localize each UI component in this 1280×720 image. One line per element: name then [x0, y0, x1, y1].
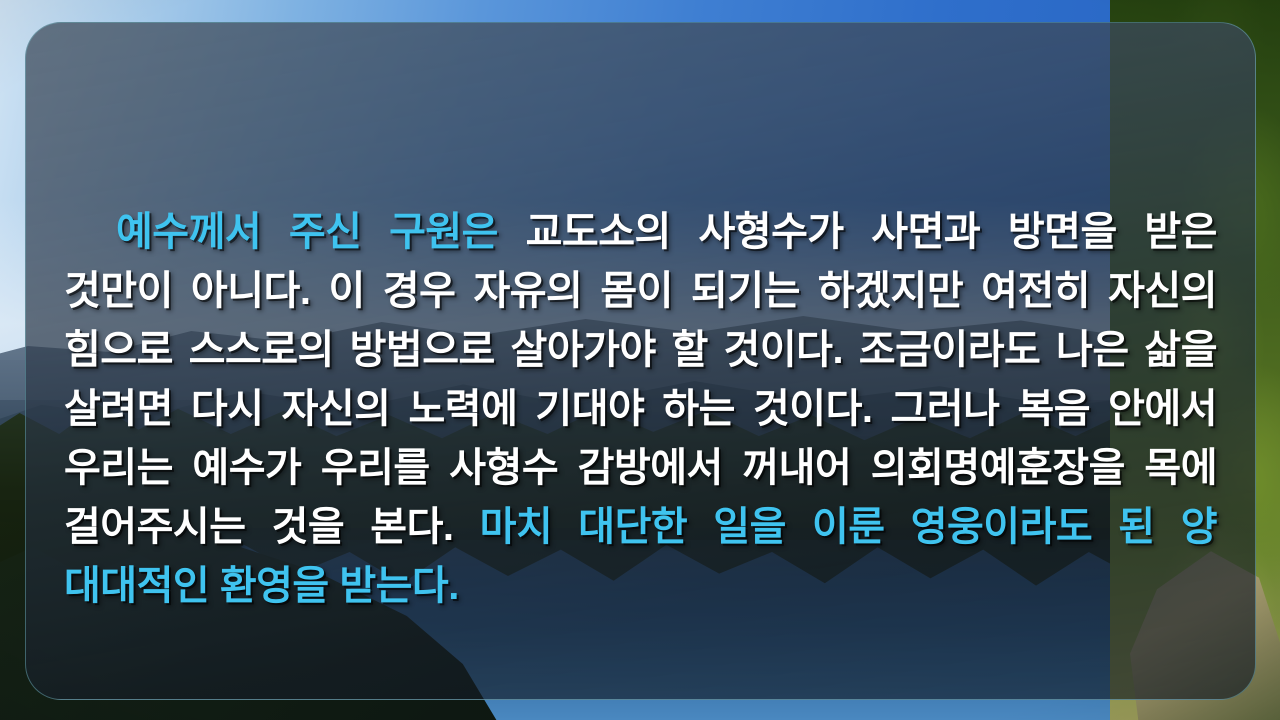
- slide-stage: 예수께서 주신 구원은 교도소의 사형수가 사면과 방면을 받은 것만이 아니다…: [0, 0, 1280, 720]
- body-main-text: 교도소의 사형수가 사면과 방면을 받은 것만이 아니다. 이 경우 자유의 몸…: [64, 210, 1217, 549]
- slide-body-text: 예수께서 주신 구원은 교도소의 사형수가 사면과 방면을 받은 것만이 아니다…: [64, 203, 1217, 616]
- content-panel: 예수께서 주신 구원은 교도소의 사형수가 사면과 방면을 받은 것만이 아니다…: [25, 22, 1256, 700]
- lead-highlight-text: 예수께서 주신 구원은: [116, 210, 498, 254]
